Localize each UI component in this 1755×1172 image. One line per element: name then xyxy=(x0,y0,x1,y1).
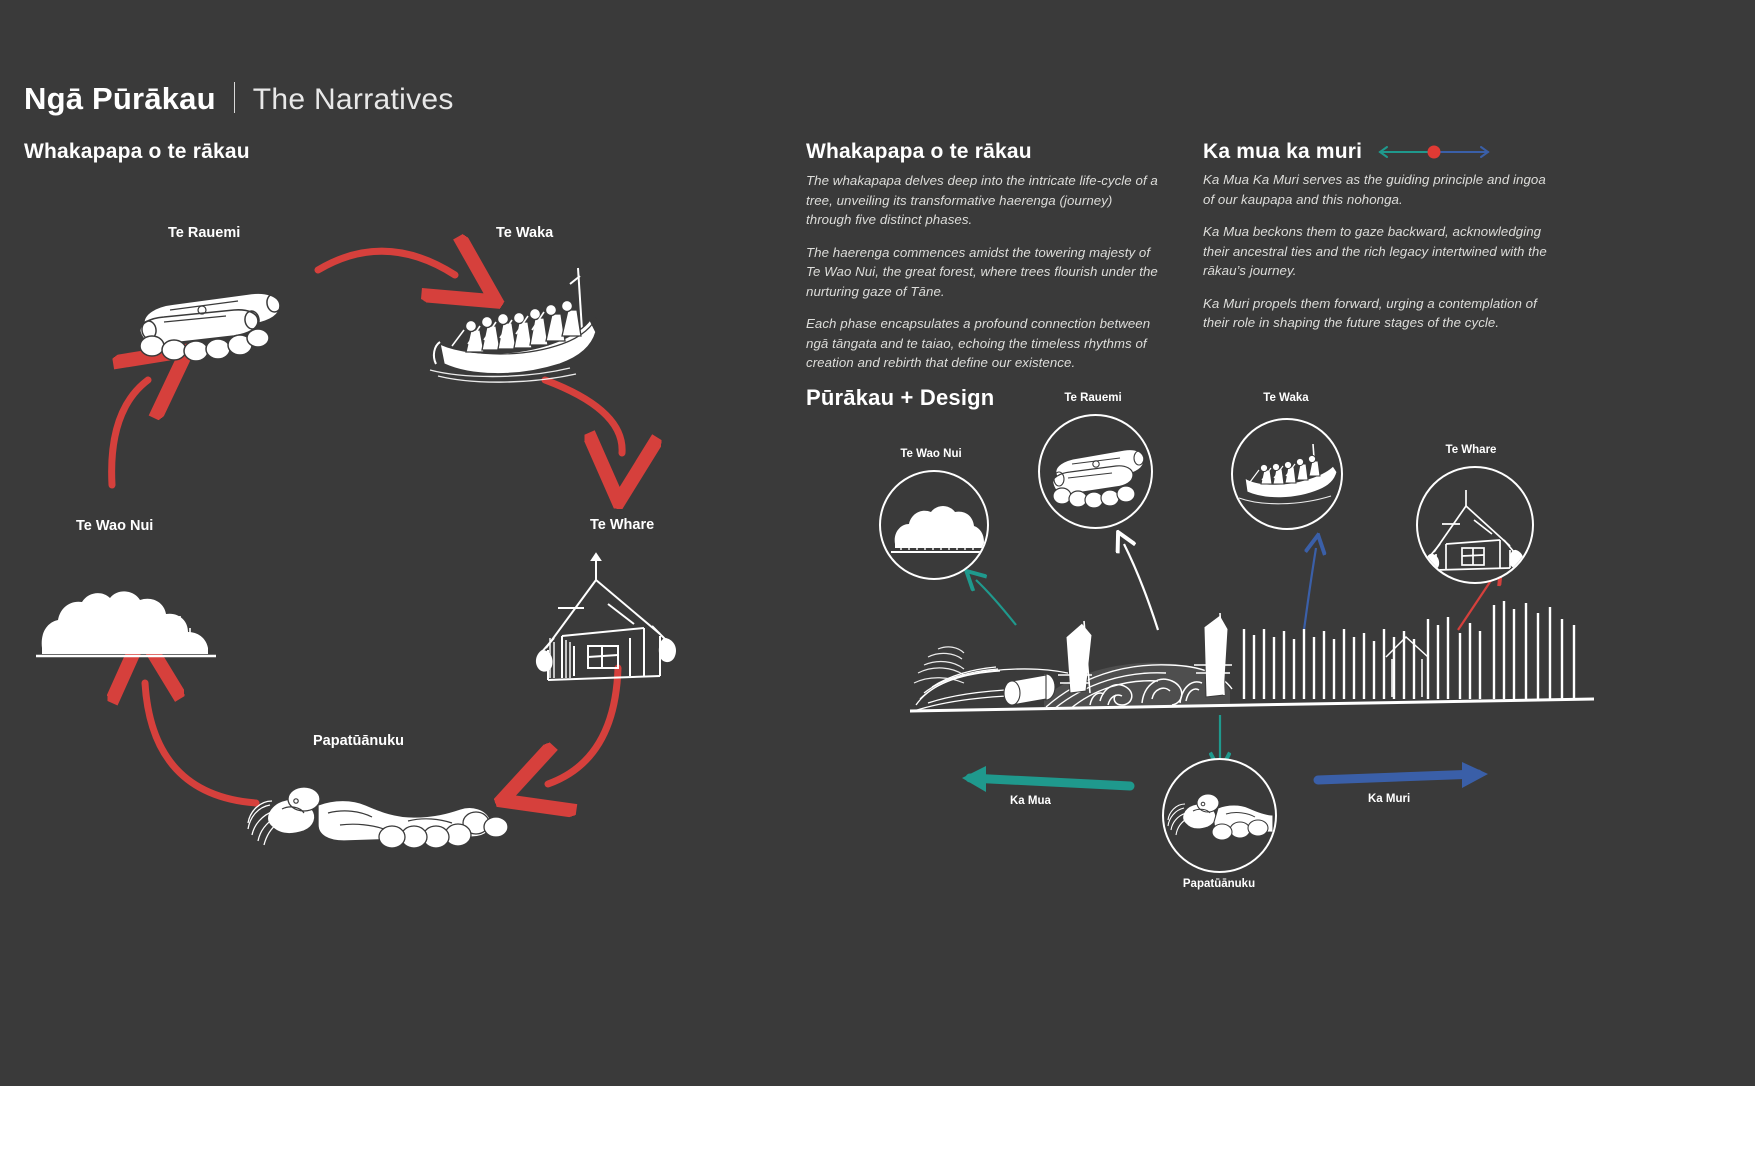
cycle-arrow-papatuanuku-to-waonui xyxy=(145,683,256,803)
title-maori: Ngā Pūrākau xyxy=(24,81,216,117)
design-label-te-wao-nui: Te Wao Nui xyxy=(866,448,996,460)
ka-mua-arrow xyxy=(962,766,1130,792)
right-paragraph-2: Ka Mua beckons them to gaze backward, ac… xyxy=(1203,222,1548,281)
design-label-te-rauemi: Te Rauemi xyxy=(1028,392,1158,404)
whakapapa-cycle-diagram: Te Rauemi xyxy=(0,195,790,895)
cycle-label-papatuanuku: Papatūānuku xyxy=(313,733,404,749)
forest-treeline-icon xyxy=(36,570,216,675)
ka-muri-arrow xyxy=(1318,762,1488,788)
mid-paragraph-3: Each phase encapsulates a profound conne… xyxy=(806,314,1158,373)
cycle-label-te-waka: Te Waka xyxy=(496,225,553,241)
left-section-heading: Whakapapa o te rākau xyxy=(24,140,250,164)
earth-mother-figure-icon xyxy=(248,765,513,855)
poster-canvas: Ngā Pūrākau The Narratives Whakapapa o t… xyxy=(0,0,1755,1086)
ka-mua-ka-muri-column: Ka mua ka muri Ka Mua Ka Muri serves as … xyxy=(1203,140,1548,346)
title-divider xyxy=(234,82,235,113)
design-circle-te-rauemi[interactable] xyxy=(1038,414,1153,529)
mid-paragraph-2: The haerenga commences amidst the toweri… xyxy=(806,243,1158,302)
design-circle-te-waka[interactable] xyxy=(1231,418,1343,530)
design-label-te-waka: Te Waka xyxy=(1221,392,1351,404)
design-label-te-whare: Te Whare xyxy=(1406,444,1536,456)
page-title: Ngā Pūrākau The Narratives xyxy=(24,78,454,117)
mid-column-heading: Whakapapa o te rākau xyxy=(806,140,1158,164)
right-paragraph-3: Ka Muri propels them forward, urging a c… xyxy=(1203,294,1548,333)
cycle-arrow-whare-to-papatuanuku xyxy=(548,668,618,784)
carved-waharoa-installation-render xyxy=(894,565,1614,735)
waka-canoe-icon xyxy=(430,260,615,385)
design-circle-te-whare[interactable] xyxy=(1416,466,1534,584)
right-column-heading-row: Ka mua ka muri xyxy=(1203,140,1548,164)
right-paragraph-1: Ka Mua Ka Muri serves as the guiding pri… xyxy=(1203,170,1548,209)
purakau-design-diagram: Te Wao Nui Te Rauemi xyxy=(806,380,1736,900)
direction-label-ka-muri: Ka Muri xyxy=(1368,793,1410,805)
cycle-label-te-rauemi: Te Rauemi xyxy=(168,225,240,241)
cycle-arrow-waonui-to-rauemi xyxy=(112,380,148,485)
cycle-arrow-waka-to-whare xyxy=(545,380,622,453)
direction-label-ka-mua: Ka Mua xyxy=(1010,795,1051,807)
bundled-timber-icon xyxy=(130,270,290,365)
cycle-label-te-wao-nui: Te Wao Nui xyxy=(76,518,153,534)
poster-page: Ngā Pūrākau The Narratives Whakapapa o t… xyxy=(0,0,1755,1172)
right-column-heading: Ka mua ka muri xyxy=(1203,140,1362,164)
whakapapa-text-column: Whakapapa o te rākau The whakapapa delve… xyxy=(806,140,1158,386)
design-label-papatuanuku: Papatūānuku xyxy=(1154,878,1284,890)
bidirectional-arrow-icon xyxy=(1376,143,1492,161)
design-circle-papatuanuku[interactable] xyxy=(1162,758,1277,873)
title-english: The Narratives xyxy=(253,83,454,117)
wharenui-house-icon xyxy=(532,550,707,685)
cycle-label-te-whare: Te Whare xyxy=(590,517,654,533)
design-circle-te-wao-nui[interactable] xyxy=(879,470,989,580)
mid-paragraph-1: The whakapapa delves deep into the intri… xyxy=(806,171,1158,230)
